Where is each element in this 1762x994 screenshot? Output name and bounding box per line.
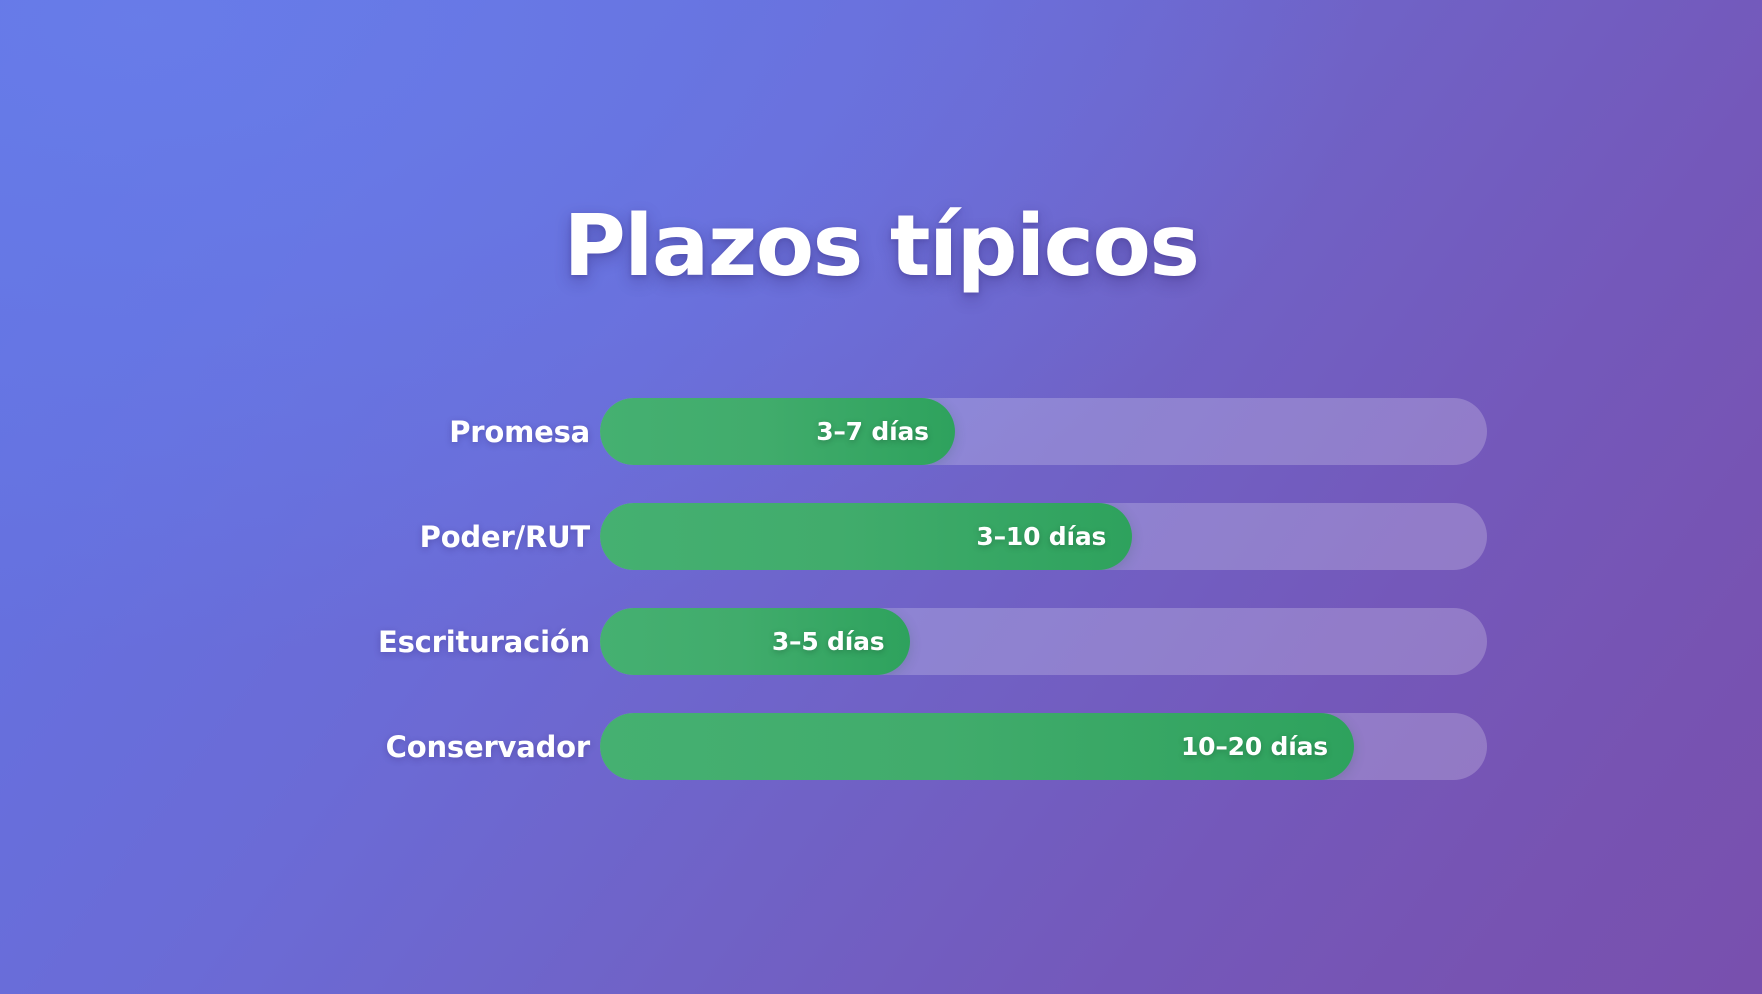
bar-label-escrituracion: Escrituración — [180, 608, 590, 675]
bar-fill: 3–10 días — [600, 503, 1132, 570]
slide-canvas: Plazos típicos Promesa 3–7 días Poder/RU… — [0, 0, 1762, 994]
timeline-bar-chart: Promesa 3–7 días Poder/RUT 3–10 días Esc… — [0, 398, 1762, 780]
bar-row: Promesa 3–7 días — [0, 398, 1762, 465]
bar-value-conservador: 10–20 días — [1181, 732, 1328, 761]
bar-track: 3–5 días — [600, 608, 1487, 675]
page-title: Plazos típicos — [564, 204, 1199, 289]
bar-value-poder-rut: 3–10 días — [976, 522, 1106, 551]
bar-track: 10–20 días — [600, 713, 1487, 780]
bar-label-promesa: Promesa — [180, 398, 590, 465]
bar-row: Poder/RUT 3–10 días — [0, 503, 1762, 570]
bar-row: Conservador 10–20 días — [0, 713, 1762, 780]
bar-label-conservador: Conservador — [180, 713, 590, 780]
bar-row: Escrituración 3–5 días — [0, 608, 1762, 675]
bar-value-promesa: 3–7 días — [816, 417, 929, 446]
bar-fill: 3–7 días — [600, 398, 955, 465]
title-block: Plazos típicos — [0, 204, 1762, 289]
bar-label-poder-rut: Poder/RUT — [180, 503, 590, 570]
bar-track: 3–7 días — [600, 398, 1487, 465]
bar-track: 3–10 días — [600, 503, 1487, 570]
bar-fill: 3–5 días — [600, 608, 910, 675]
bar-fill: 10–20 días — [600, 713, 1354, 780]
bar-value-escrituracion: 3–5 días — [772, 627, 885, 656]
